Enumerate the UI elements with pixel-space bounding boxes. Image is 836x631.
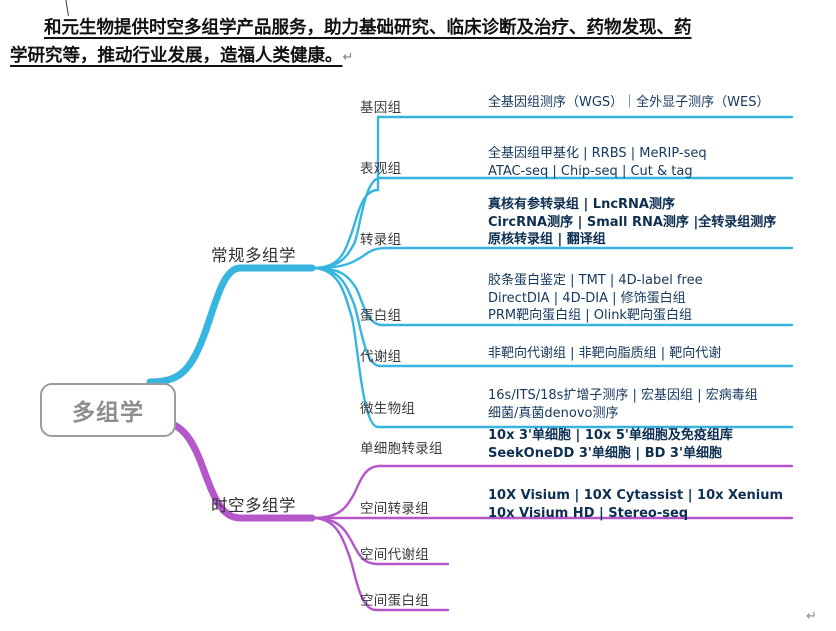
detail-line: 细菌/真菌denovo测序 [488, 405, 758, 423]
detail-line: 16s/ITS/18s扩增子测序 | 宏基因组 | 宏病毒组 [488, 387, 758, 405]
node-microbiome[interactable]: 微生物组 [360, 397, 415, 417]
detail-line: 非靶向代谢组 | 非靶向脂质组 | 靶向代谢 [488, 345, 721, 363]
detail-line: 10x 3'单细胞 | 10x 5'单细胞及免疫组库 [488, 427, 733, 445]
paragraph-mark-icon: ↵ [343, 50, 354, 65]
branch-label-spatiotemporal-text: 时空多组学 [211, 496, 296, 515]
node-epigenomics[interactable]: 表观组 [360, 157, 401, 177]
detail-transcriptomics: 真核有参转录组 | LncRNA测序 CircRNA测序 | Small RNA… [488, 196, 776, 249]
branch-label-conventional-text: 常规多组学 [211, 246, 296, 265]
node-transcriptomics[interactable]: 转录组 [360, 228, 401, 248]
node-spatial-metabolomics-label: 空间代谢组 [360, 547, 429, 563]
detail-line: CircRNA测序 | Small RNA测序 |全转录组测序 [488, 214, 776, 232]
node-proteomics[interactable]: 蛋白组 [360, 304, 401, 324]
node-transcriptomics-label: 转录组 [360, 232, 401, 248]
detail-line: 全基因组甲基化 | RRBS | MeRIP-seq [488, 145, 707, 163]
branch-label-spatiotemporal[interactable]: 时空多组学 [211, 492, 296, 516]
node-single-cell-transcriptomics-label: 单细胞转录组 [360, 441, 443, 457]
detail-single-cell-transcriptomics: 10x 3'单细胞 | 10x 5'单细胞及免疫组库 SeekOneDD 3'单… [488, 427, 733, 462]
header-line-2-text: 学研究等，推动行业发展，造福人类健康。 [10, 46, 343, 66]
node-genomics[interactable]: 基因组 [360, 96, 401, 116]
corner-paragraph-mark-icon: ↵ [806, 609, 817, 624]
node-metabolomics-label: 代谢组 [360, 349, 401, 365]
detail-genomics: 全基因组测序（WGS）｜全外显子测序（WES） [488, 94, 770, 112]
detail-line: SeekOneDD 3'单细胞 | BD 3'单细胞 [488, 445, 733, 463]
header-line-1-text: 和元生物提供时空多组学产品服务，助力基础研究、临床诊断及治疗、药物发现、药 [44, 18, 692, 38]
detail-line: 胶条蛋白鉴定 | TMT | 4D-label free [488, 272, 703, 290]
detail-line: 原核转录组 | 翻译组 [488, 231, 776, 249]
node-genomics-label: 基因组 [360, 100, 401, 116]
trunk-conventional [150, 268, 312, 382]
node-spatial-proteomics-label: 空间蛋白组 [360, 593, 429, 609]
header-text: 和元生物提供时空多组学产品服务，助力基础研究、临床诊断及治疗、药物发现、药 学研… [10, 14, 828, 72]
detail-line: 10x Visium HD | Stereo-seq [488, 505, 783, 523]
header-line-2: 学研究等，推动行业发展，造福人类健康。↵ [10, 42, 828, 72]
node-spatial-transcriptomics[interactable]: 空间转录组 [360, 497, 429, 517]
root-node-label: 多组学 [72, 393, 144, 427]
detail-metabolomics: 非靶向代谢组 | 非靶向脂质组 | 靶向代谢 [488, 345, 721, 363]
node-spatial-proteomics[interactable]: 空间蛋白组 [360, 589, 429, 609]
node-microbiome-label: 微生物组 [360, 401, 415, 417]
detail-line: 10X Visium | 10X Cytassist | 10x Xenium [488, 487, 783, 505]
branch-label-conventional[interactable]: 常规多组学 [211, 242, 296, 266]
detail-line: 真核有参转录组 | LncRNA测序 [488, 196, 776, 214]
detail-line: DirectDIA | 4D-DIA | 修饰蛋白组 [488, 290, 703, 308]
node-spatial-transcriptomics-label: 空间转录组 [360, 501, 429, 517]
node-epigenomics-label: 表观组 [360, 161, 401, 177]
detail-proteomics: 胶条蛋白鉴定 | TMT | 4D-label free DirectDIA |… [488, 272, 703, 325]
node-single-cell-transcriptomics[interactable]: 单细胞转录组 [360, 437, 443, 457]
detail-epigenomics: 全基因组甲基化 | RRBS | MeRIP-seq ATAC-seq | Ch… [488, 145, 707, 180]
node-spatial-metabolomics[interactable]: 空间代谢组 [360, 543, 429, 563]
mindmap-page: ╲ 和元生物提供时空多组学产品服务，助力基础研究、临床诊断及治疗、药物发现、药 … [0, 0, 836, 631]
detail-spatial-transcriptomics: 10X Visium | 10X Cytassist | 10x Xenium … [488, 487, 783, 522]
node-metabolomics[interactable]: 代谢组 [360, 345, 401, 365]
detail-line: PRM靶向蛋白组 | Olink靶向蛋白组 [488, 307, 703, 325]
detail-line: ATAC-seq | Chip-seq | Cut & tag [488, 163, 707, 181]
mindmap-canvas: 多组学 常规多组学 时空多组学 基因组 表观组 转录组 蛋白组 代谢组 微生物组… [0, 72, 836, 631]
detail-line: 全基因组测序（WGS）｜全外显子测序（WES） [488, 94, 770, 112]
root-node[interactable]: 多组学 [40, 383, 176, 437]
detail-microbiome: 16s/ITS/18s扩增子测序 | 宏基因组 | 宏病毒组 细菌/真菌deno… [488, 387, 758, 422]
header-line-1: 和元生物提供时空多组学产品服务，助力基础研究、临床诊断及治疗、药物发现、药 [10, 14, 828, 42]
node-proteomics-label: 蛋白组 [360, 308, 401, 324]
